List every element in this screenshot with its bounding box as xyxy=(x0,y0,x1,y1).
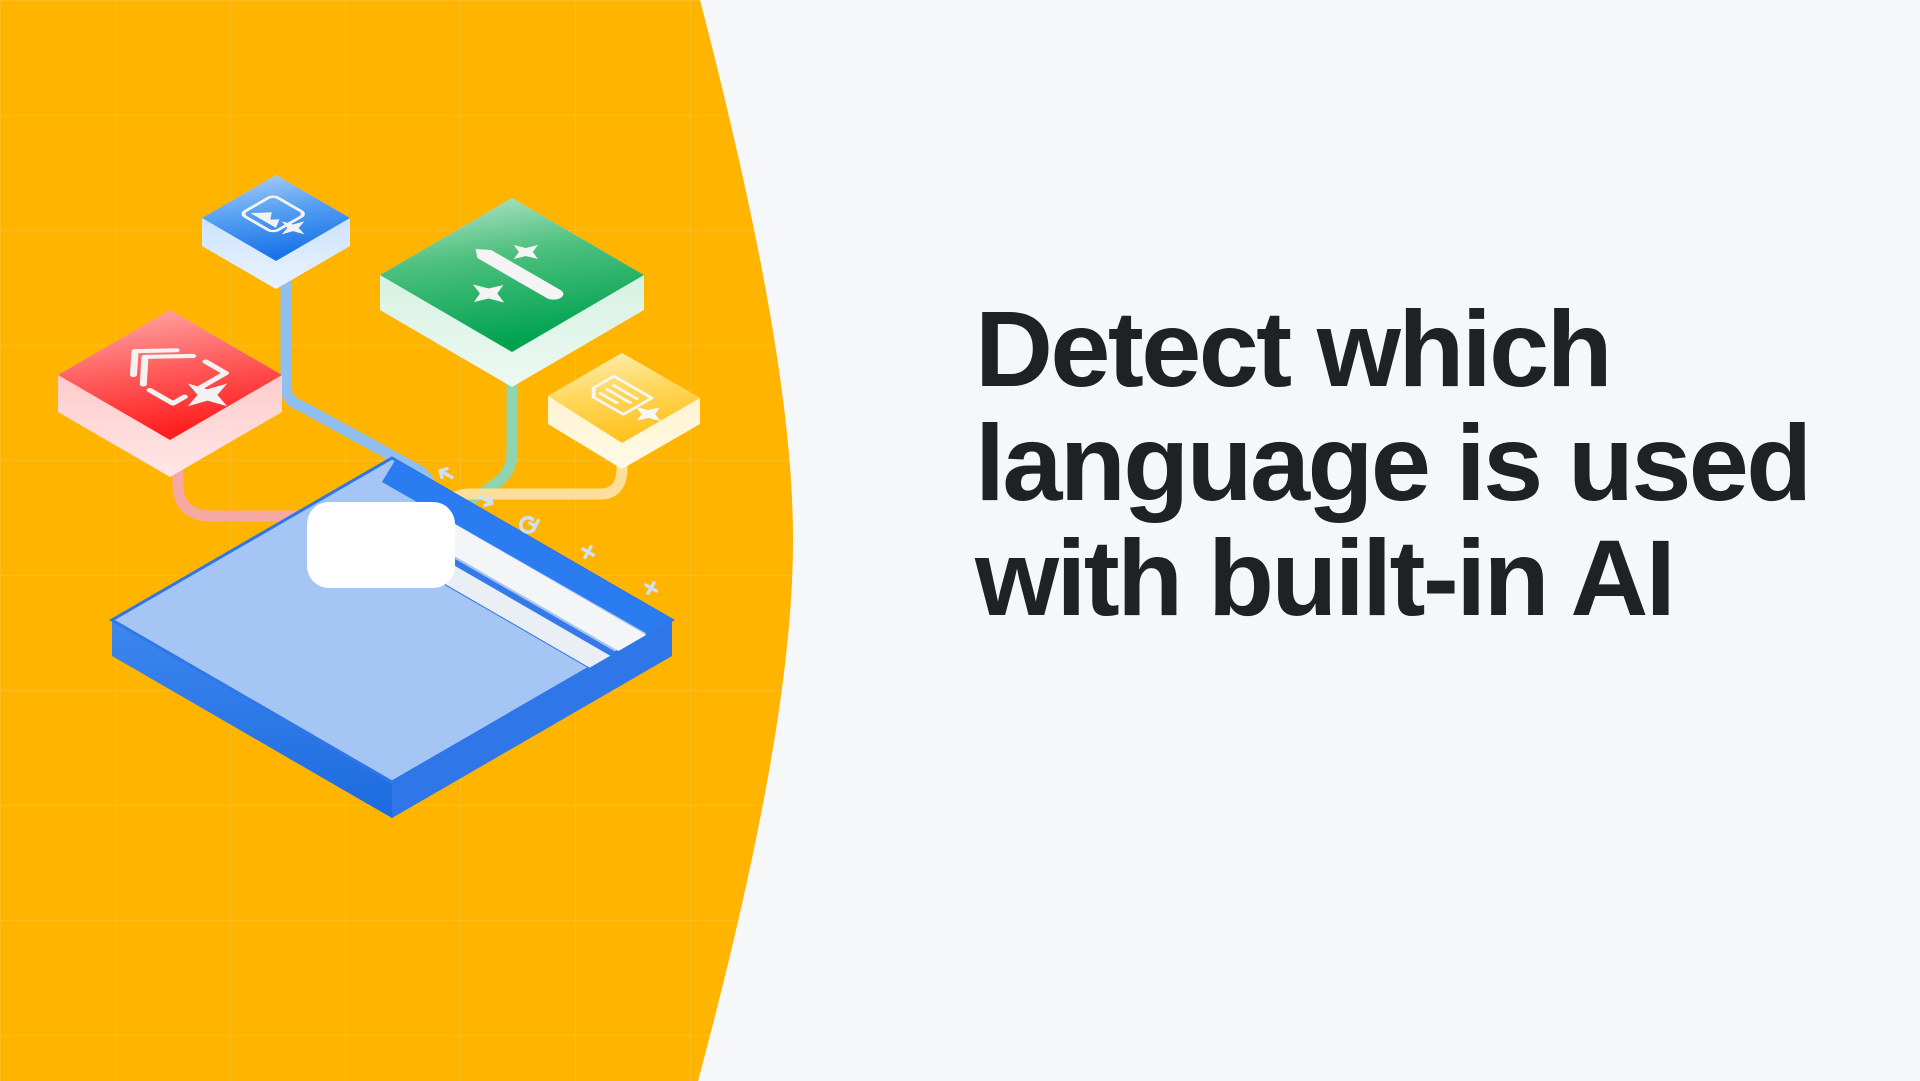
hero-card: Detect which language is used with built… xyxy=(0,0,1920,1081)
orange-background-panel xyxy=(0,0,800,1081)
page-title: Detect which language is used with built… xyxy=(975,292,1835,635)
hero-text-block: Detect which language is used with built… xyxy=(975,292,1835,635)
panel-grid xyxy=(0,0,800,1081)
